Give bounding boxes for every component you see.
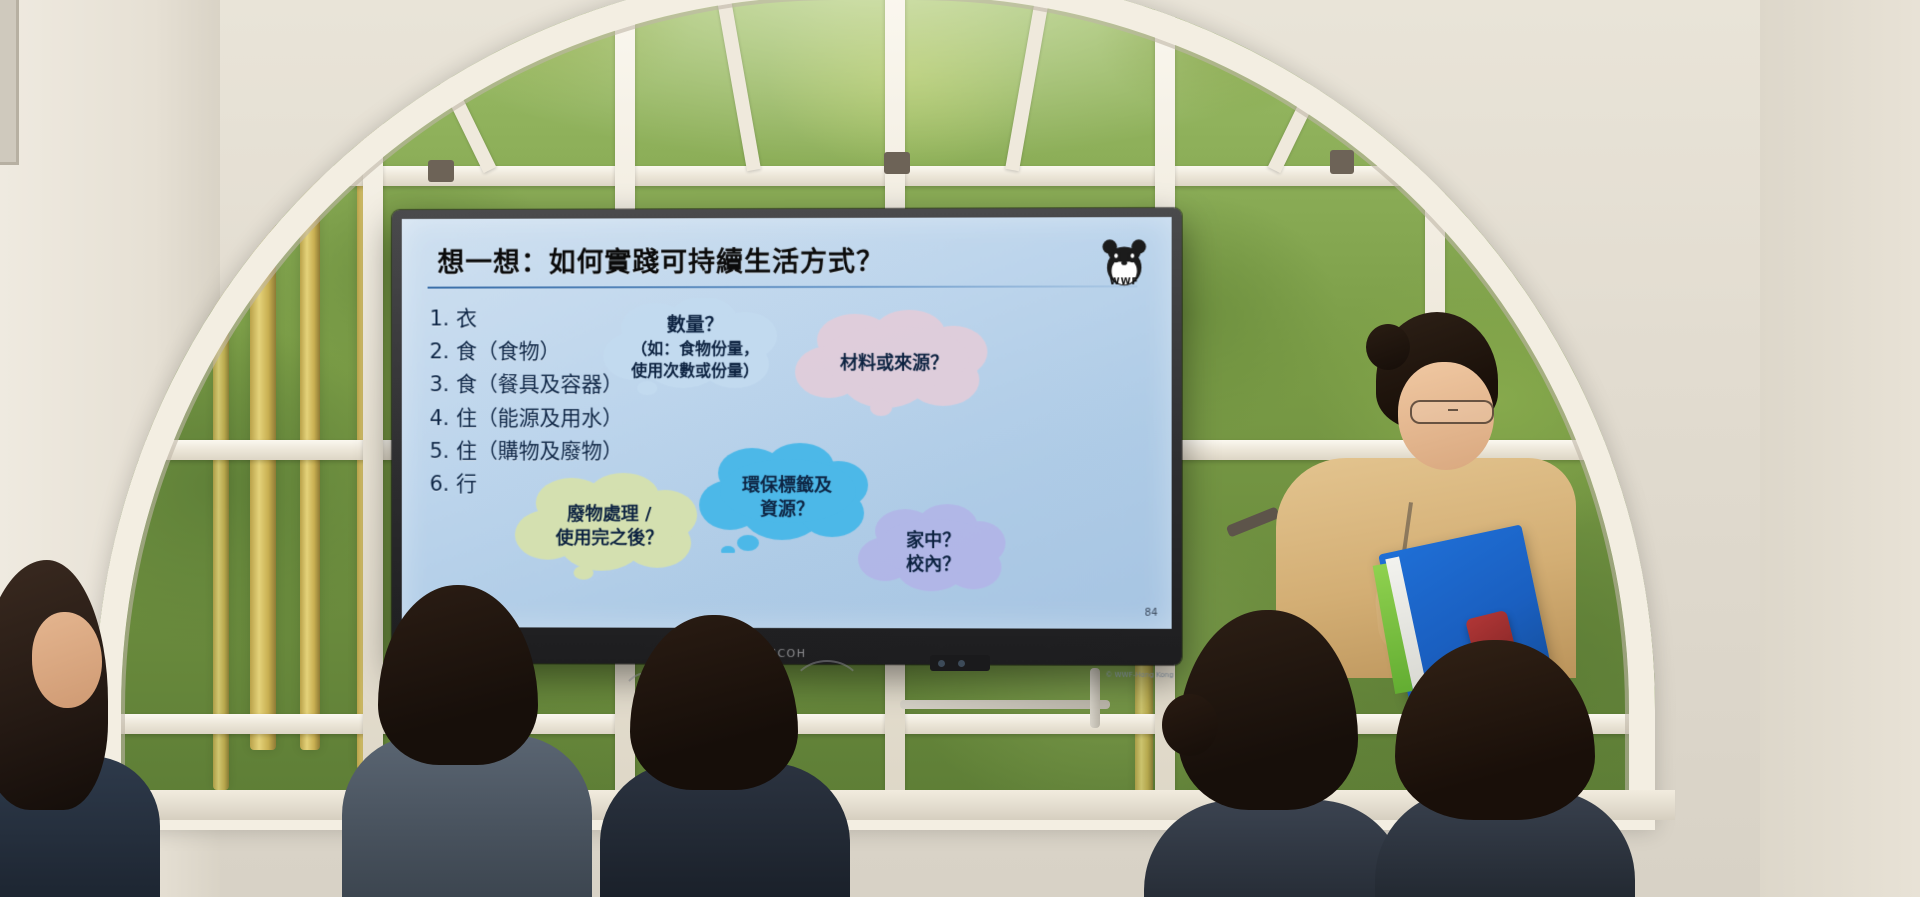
display-camera-bar xyxy=(930,655,990,671)
display-screen[interactable]: 想一想：如何實踐可持續生活方式？ WWF xyxy=(402,217,1172,629)
pipe xyxy=(900,700,1110,709)
thought-bubble-where: 家中？ 校內？ xyxy=(855,503,1012,603)
bubble-line-2: 資源？ xyxy=(760,499,814,520)
window-latch[interactable] xyxy=(1330,150,1354,174)
student-foreground-4 xyxy=(1168,610,1378,897)
bubble-text: 環保標籤及 資源？ xyxy=(736,474,838,523)
student-hair-bun xyxy=(1162,694,1218,756)
list-item: 4. 住（能源及用水） xyxy=(430,402,758,435)
student-body xyxy=(1144,800,1406,897)
bubble-line-2: （如：食物份量， xyxy=(631,339,759,358)
bubble-line-2: 使用完之後？ xyxy=(556,528,664,549)
wwf-logo-text: WWF xyxy=(1097,277,1151,287)
bubble-text: 材料或來源？ xyxy=(834,352,954,376)
slide-credit: © WWF-Hong Kong xyxy=(1105,671,1173,679)
student-foreground-left xyxy=(0,560,130,897)
student-hair xyxy=(378,585,538,765)
title-divider xyxy=(428,285,1138,288)
student-foreground-5 xyxy=(1395,640,1605,897)
student-hair xyxy=(1395,640,1595,820)
student-hair xyxy=(630,615,798,790)
bubble-text: 家中？ 校內？ xyxy=(900,529,966,578)
bubble-line-1: 環保標籤及 xyxy=(742,475,832,496)
wall-right xyxy=(1760,0,1920,897)
teacher-glasses xyxy=(1410,400,1494,424)
wall-frame-corner xyxy=(0,0,19,165)
window-latch[interactable] xyxy=(428,160,454,182)
thought-bubble-material: 材料或來源？ xyxy=(785,310,1004,418)
student-face xyxy=(32,612,102,708)
bubble-line-1: 家中？ xyxy=(906,530,960,551)
student-foreground-2 xyxy=(378,585,548,897)
bubble-text: 數量？ （如：食物份量， 使用次數或份量） xyxy=(625,313,765,382)
slide-title: 想一想：如何實踐可持續生活方式？ xyxy=(437,240,884,280)
teacher-hair-bun xyxy=(1366,324,1410,370)
presentation-slide: 想一想：如何實踐可持續生活方式？ WWF xyxy=(402,217,1172,629)
bubble-line-1: 數量？ xyxy=(667,314,724,336)
thought-bubble-waste: 廢物處理 / 使用完之後？ xyxy=(506,473,713,581)
bubble-line-1: 廢物處理 / xyxy=(567,504,651,525)
slide-number: 84 xyxy=(1145,608,1158,619)
pipe xyxy=(1090,668,1100,728)
classroom-photo: 想一想：如何實踐可持續生活方式？ WWF xyxy=(0,0,1920,897)
thought-bubble-quantity: 數量？ （如：食物份量， 使用次數或份量） xyxy=(595,298,795,396)
bubble-line-3: 使用次數或份量） xyxy=(631,361,759,380)
thought-bubble-eco-label: 環保標籤及 資源？ xyxy=(692,443,882,553)
bubble-text: 廢物處理 / 使用完之後？ xyxy=(550,503,669,552)
bubble-line-2: 校內？ xyxy=(906,554,960,575)
window-latch[interactable] xyxy=(884,152,910,174)
student-foreground-3 xyxy=(630,615,810,897)
